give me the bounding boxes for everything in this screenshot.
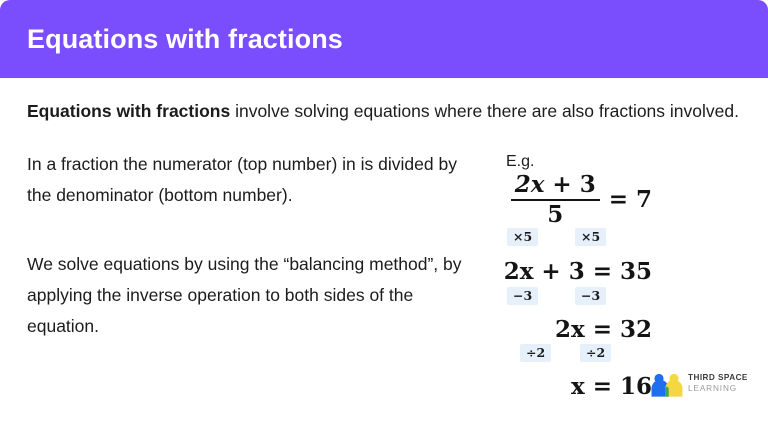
paragraph-definition: Equations with fractions involve solving… (27, 96, 739, 127)
example-step-1-equation: 2x + 3 5 = 7 (492, 172, 652, 228)
example-step-3-equation: 2x = 32 (492, 318, 652, 342)
paragraph-numerator-denominator: In a fraction the numerator (top number)… (27, 149, 482, 211)
fraction-numerator: 2x + 3 (511, 172, 600, 199)
brand-name-line-1: THIRD SPACE (688, 373, 750, 383)
example-label: E.g. (506, 152, 652, 172)
example-step-3-operations: ÷2 ÷2 (492, 344, 652, 363)
fraction: 2x + 3 5 (511, 172, 600, 228)
example-step-1-operations: ×5 ×5 (492, 228, 652, 247)
third-space-learning-logo-icon (650, 372, 684, 398)
page-title: Equations with fractions (27, 22, 343, 56)
worked-example: E.g. 2x + 3 5 = 7 ×5 ×5 2x + 3 = 35 −3 −… (492, 152, 652, 400)
example-step-2-operations: −3 −3 (492, 287, 652, 306)
lesson-slide: Equations with fractions Equations with … (0, 0, 768, 436)
paragraph-definition-term: Equations with fractions (27, 101, 230, 121)
operation-badge-right: −3 (575, 287, 606, 305)
fraction-denominator: 5 (543, 201, 567, 228)
operation-badge-left: ×5 (507, 228, 538, 246)
operation-badge-left: −3 (507, 287, 538, 305)
brand-logo-text: THIRD SPACE LEARNING (688, 373, 750, 394)
lesson-body-text: Equations with fractions involve solving… (27, 96, 482, 342)
step-1-right-side: = 7 (609, 188, 652, 212)
operation-badge-left: ÷2 (520, 344, 551, 362)
paragraph-definition-rest: involve solving equations where there ar… (230, 101, 739, 121)
example-step-4-solution: x = 16 (492, 375, 652, 399)
operation-badge-right: ×5 (575, 228, 606, 246)
brand-logo: THIRD SPACE LEARNING (650, 371, 750, 401)
operation-badge-right: ÷2 (580, 344, 611, 362)
example-step-2-equation: 2x + 3 = 35 (492, 260, 652, 284)
numerator-term: 2x (515, 171, 545, 198)
slide-header: Equations with fractions (0, 0, 768, 78)
brand-name-line-2: LEARNING (688, 383, 750, 394)
paragraph-balancing-method: We solve equations by using the “balanci… (27, 249, 482, 342)
numerator-plus: + 3 (544, 171, 595, 198)
